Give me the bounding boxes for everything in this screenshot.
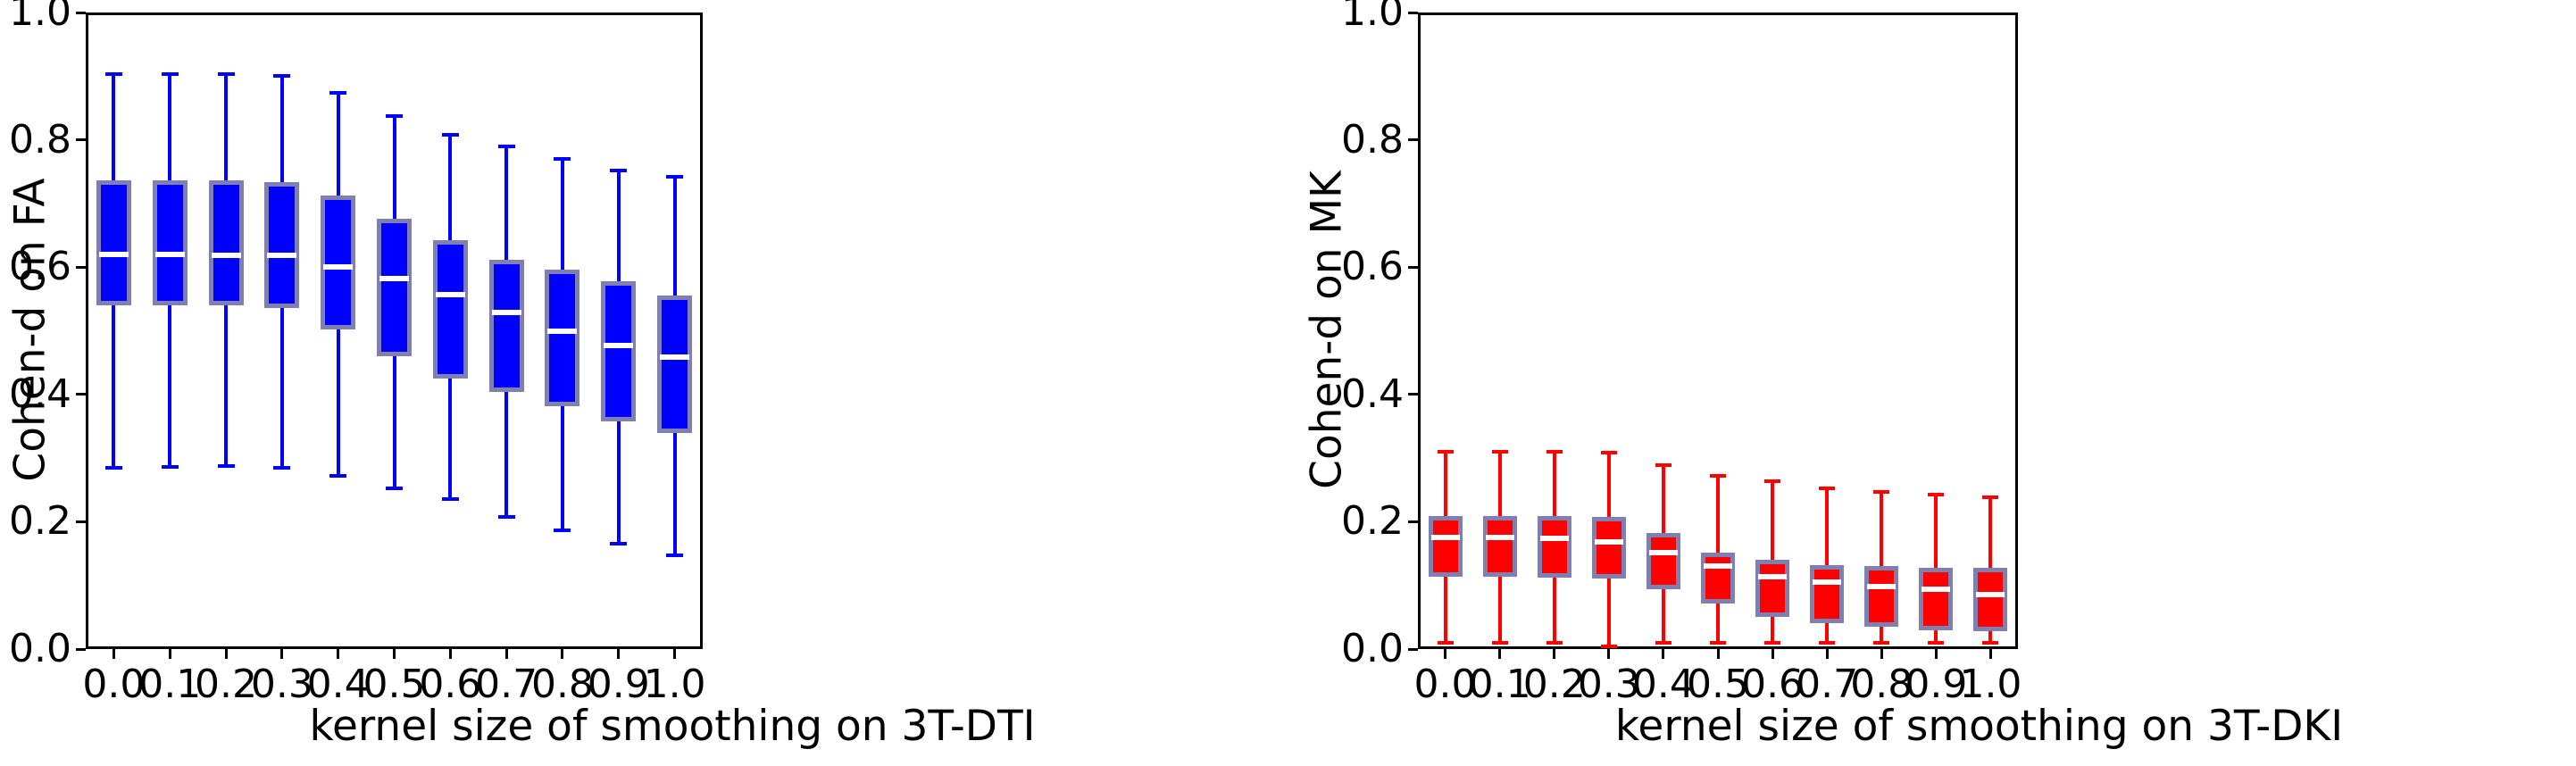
median-line <box>436 292 465 297</box>
median-line <box>99 252 129 257</box>
cap-lower <box>1710 641 1726 645</box>
cap-upper <box>1928 493 1944 496</box>
whisker-upper <box>673 177 677 296</box>
median-line <box>660 354 689 360</box>
x-tick-mark <box>1662 649 1664 659</box>
x-tick-mark <box>1989 649 1992 659</box>
x-tick-mark <box>505 649 508 659</box>
cap-lower <box>1982 641 1998 645</box>
box <box>433 240 468 379</box>
cap-upper <box>218 72 235 76</box>
cap-lower <box>1655 641 1671 645</box>
whisker-upper <box>1988 497 1992 567</box>
x-tick-mark <box>1826 649 1829 659</box>
x-axis-label: kernel size of smoothing on 3T-DTI <box>0 702 1295 751</box>
whisker-upper <box>1934 495 1938 568</box>
cap-lower <box>329 474 346 478</box>
whisker-lower <box>617 421 621 545</box>
cap-lower <box>273 466 290 470</box>
x-tick-mark <box>337 649 339 659</box>
x-tick-mark <box>1880 649 1883 659</box>
y-tick-mark <box>1408 648 1418 651</box>
y-tick-mark <box>76 266 86 269</box>
median-line <box>1922 587 1950 592</box>
whisker-upper <box>1880 492 1883 566</box>
cap-lower <box>105 466 122 470</box>
box <box>1919 568 1953 630</box>
whisker-upper <box>617 171 621 281</box>
cap-upper <box>1601 451 1617 454</box>
whisker-lower <box>112 305 115 468</box>
cap-lower <box>1764 641 1780 645</box>
cap-upper <box>1655 463 1671 467</box>
x-tick-mark <box>1772 649 1774 659</box>
cap-lower <box>554 529 571 532</box>
cap-upper <box>554 157 571 161</box>
cap-upper <box>1764 479 1780 483</box>
whisker-upper <box>561 159 564 270</box>
cap-upper <box>1438 450 1454 454</box>
median-line <box>1431 535 1460 540</box>
y-tick-mark <box>1408 393 1418 395</box>
x-tick-label: 1.0 <box>630 665 720 704</box>
y-tick-mark <box>76 12 86 14</box>
median-line <box>1976 592 2005 597</box>
x-tick-mark <box>617 649 620 659</box>
cap-upper <box>1873 490 1889 494</box>
cap-lower <box>1873 641 1889 645</box>
cap-lower <box>1928 641 1944 645</box>
x-tick-mark <box>1607 649 1610 659</box>
whisker-upper <box>168 74 171 179</box>
x-tick-mark <box>225 649 228 659</box>
cap-upper <box>1546 450 1563 454</box>
median-line <box>1813 579 1841 585</box>
box <box>209 180 244 305</box>
y-tick-mark <box>1408 138 1418 141</box>
box <box>1973 568 2007 631</box>
cap-lower <box>218 464 235 468</box>
box <box>1429 516 1463 577</box>
median-line <box>604 343 633 348</box>
x-tick-label: 1.0 <box>1946 665 2035 704</box>
x-tick-mark <box>1444 649 1446 659</box>
y-tick-label: 1.0 <box>9 0 71 32</box>
cap-lower <box>1819 641 1835 645</box>
y-tick-label: 1.0 <box>1341 0 1404 32</box>
x-tick-mark <box>1498 649 1501 659</box>
panel-mk: 0.00.20.40.60.81.00.00.10.20.30.40.50.60… <box>1295 0 2576 766</box>
whisker-upper <box>337 93 340 196</box>
cap-lower <box>1601 645 1617 648</box>
median-line <box>1649 550 1678 555</box>
median-line <box>323 264 353 270</box>
x-axis-label: kernel size of smoothing on 3T-DKI <box>1295 702 2576 751</box>
whisker-lower <box>1771 617 1774 643</box>
median-line <box>547 329 577 334</box>
box <box>377 219 412 356</box>
whisker-upper <box>393 116 396 220</box>
box <box>1538 516 1571 578</box>
cap-upper <box>1819 487 1835 490</box>
x-tick-mark <box>280 649 283 659</box>
box <box>96 180 131 305</box>
median-line <box>1540 536 1569 541</box>
cap-upper <box>442 133 459 137</box>
box <box>1755 560 1789 617</box>
cap-lower <box>162 465 179 469</box>
whisker-lower <box>337 329 340 476</box>
whisker-upper <box>504 146 508 260</box>
whisker-upper <box>1553 452 1556 516</box>
figure-canvas: 0.00.20.40.60.81.00.00.10.20.30.40.50.60… <box>0 0 2576 766</box>
y-tick-label: 0.0 <box>1341 629 1404 669</box>
cap-upper <box>386 114 403 118</box>
whisker-lower <box>673 433 677 555</box>
y-tick-label: 0.0 <box>9 629 71 669</box>
x-tick-mark <box>561 649 563 659</box>
box <box>1864 566 1898 627</box>
y-tick-mark <box>76 648 86 651</box>
box <box>1701 553 1735 604</box>
whisker-upper <box>1771 481 1774 560</box>
cap-lower <box>610 542 627 545</box>
whisker-upper <box>112 74 115 179</box>
box <box>321 196 355 329</box>
cap-lower <box>666 554 683 557</box>
y-tick-mark <box>76 138 86 141</box>
median-line <box>492 310 521 315</box>
cap-upper <box>1492 450 1508 454</box>
y-axis-label: Cohen-d on MK <box>1303 62 1352 598</box>
median-line <box>1758 574 1787 579</box>
whisker-lower <box>224 305 228 466</box>
x-tick-mark <box>1553 649 1555 659</box>
whisker-upper <box>280 76 284 182</box>
cap-upper <box>610 169 627 172</box>
whisker-lower <box>504 392 508 517</box>
x-tick-mark <box>113 649 115 659</box>
cap-upper <box>666 175 683 179</box>
cap-upper <box>105 72 122 76</box>
box <box>489 260 524 392</box>
median-line <box>379 276 409 281</box>
y-tick-mark <box>76 393 86 395</box>
whisker-upper <box>1825 488 1829 565</box>
cap-upper <box>498 145 515 148</box>
whisker-lower <box>393 356 396 488</box>
whisker-lower <box>1825 623 1829 642</box>
whisker-lower <box>1553 578 1556 643</box>
cap-lower <box>1438 641 1454 645</box>
x-tick-mark <box>169 649 171 659</box>
whisker-upper <box>1716 476 1720 553</box>
y-tick-mark <box>1408 266 1418 269</box>
y-tick-mark <box>76 520 86 523</box>
whisker-lower <box>1607 579 1611 646</box>
whisker-lower <box>280 308 284 468</box>
x-tick-mark <box>1717 649 1720 659</box>
cap-lower <box>1546 641 1563 645</box>
y-tick-mark <box>1408 12 1418 14</box>
whisker-lower <box>1662 589 1665 643</box>
box <box>1646 533 1680 589</box>
whisker-upper <box>1607 453 1611 516</box>
median-line <box>1867 584 1896 589</box>
median-line <box>155 252 185 257</box>
cap-upper <box>1982 495 1998 499</box>
box <box>1483 516 1517 577</box>
x-tick-mark <box>1935 649 1938 659</box>
cap-upper <box>273 74 290 78</box>
panel-fa: 0.00.20.40.60.81.00.00.10.20.30.40.50.60… <box>0 0 1295 766</box>
whisker-lower <box>1716 604 1720 642</box>
y-tick-mark <box>1408 520 1418 523</box>
box <box>601 281 636 421</box>
cap-lower <box>442 497 459 501</box>
cap-upper <box>329 91 346 95</box>
whisker-lower <box>561 406 564 530</box>
box <box>545 270 579 406</box>
cap-lower <box>498 515 515 519</box>
whisker-lower <box>448 379 452 499</box>
whisker-upper <box>1498 452 1502 516</box>
median-line <box>1486 535 1514 540</box>
whisker-upper <box>1662 465 1665 533</box>
box <box>1810 565 1844 624</box>
cap-lower <box>1492 641 1508 645</box>
whisker-upper <box>224 74 228 179</box>
whisker-upper <box>1444 452 1447 516</box>
box <box>657 296 692 433</box>
whisker-upper <box>448 135 452 240</box>
cap-lower <box>386 487 403 490</box>
whisker-lower <box>1498 577 1502 642</box>
box <box>153 180 188 305</box>
median-line <box>1595 539 1623 545</box>
cap-upper <box>162 72 179 76</box>
whisker-lower <box>168 305 171 467</box>
median-line <box>267 253 296 258</box>
box <box>264 182 299 308</box>
median-line <box>1704 563 1732 569</box>
box <box>1592 517 1626 579</box>
cap-upper <box>1710 474 1726 478</box>
x-tick-mark <box>393 649 396 659</box>
whisker-lower <box>1444 577 1447 643</box>
x-tick-mark <box>673 649 676 659</box>
y-axis-label: Cohen-d on FA <box>6 62 55 598</box>
median-line <box>212 253 241 258</box>
x-tick-mark <box>449 649 452 659</box>
